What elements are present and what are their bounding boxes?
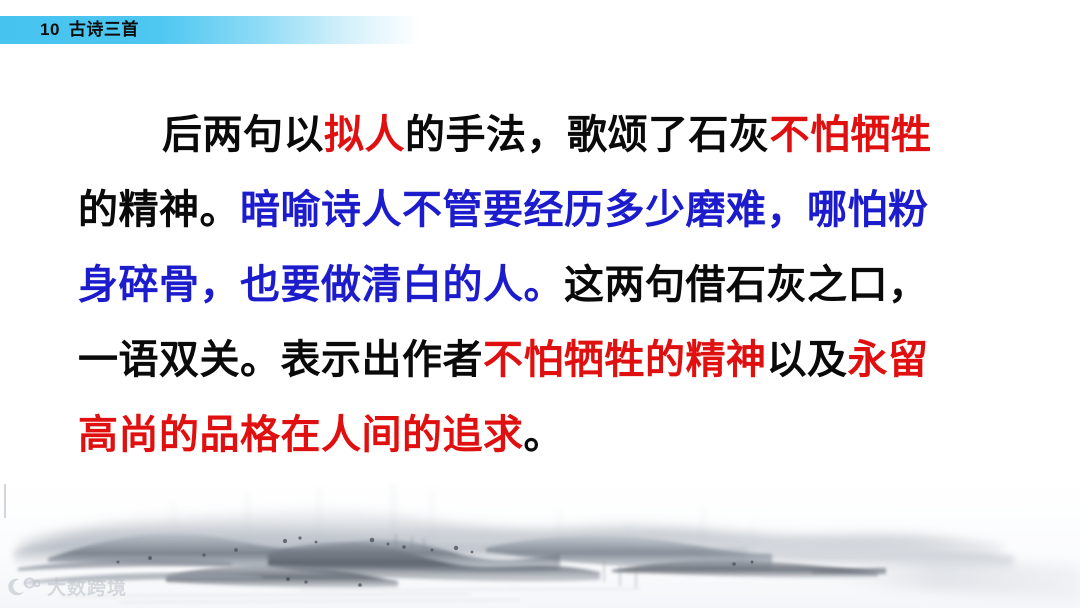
text-segment-red: 高尚的品格在人间的追求 [78,413,524,457]
body-line: 后两句以拟人的手法，歌颂了石灰不怕牺牲 [78,98,1008,173]
slide-canvas: 10古诗三首 后两句以拟人的手法，歌颂了石灰不怕牺牲的精神。暗喻诗人不管要经历多… [0,0,1080,608]
text-segment-black: 以及 [767,338,848,382]
text-segment-blue: 身碎骨，也要做清白的人。 [78,263,564,307]
page-title: 10古诗三首 [40,17,139,43]
body-line: 的精神。暗喻诗人不管要经历多少磨难，哪怕粉 [78,173,1008,248]
ink-landscape-artwork [0,478,1080,608]
text-segment-red: 永留 [848,338,929,382]
page-title-text: 古诗三首 [69,20,139,39]
text-segment-black: 这两句借石灰之口， [564,263,929,307]
text-segment-red: 不怕牺牲 [770,113,932,157]
text-segment-black: 的手法，歌颂了石灰 [405,113,770,157]
text-segment-red: 拟人 [324,113,405,157]
text-segment-blue: 暗喻诗人不管要经历多少磨难，哪怕粉 [240,188,929,232]
text-segment-black: 的精神。 [78,188,240,232]
body-paragraph: 后两句以拟人的手法，歌颂了石灰不怕牺牲的精神。暗喻诗人不管要经历多少磨难，哪怕粉… [78,98,1008,473]
text-segment-black: 。 [524,413,565,457]
page-title-number: 10 [40,20,60,39]
text-segment-red: 不怕牺牲的精神 [483,338,767,382]
text-segment-black: 后两句以 [162,113,324,157]
body-line: 高尚的品格在人间的追求。 [78,398,1008,473]
text-segment-black: 一语双关。表示出作者 [78,338,483,382]
body-line: 身碎骨，也要做清白的人。这两句借石灰之口， [78,248,1008,323]
body-line: 一语双关。表示出作者不怕牺牲的精神以及永留 [78,323,1008,398]
